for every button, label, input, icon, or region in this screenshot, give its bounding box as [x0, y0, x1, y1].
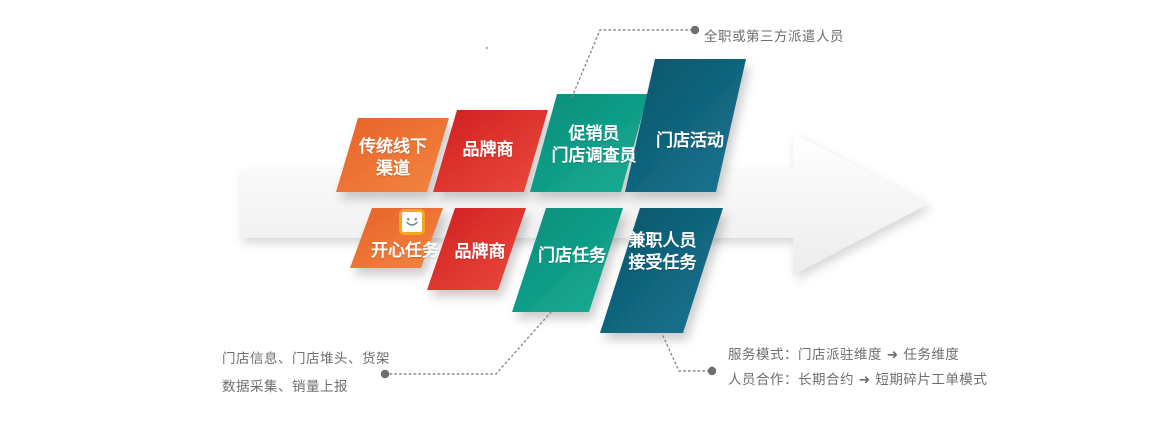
connector-dot-bottom-right: [708, 367, 716, 375]
connector-bottom-left: [389, 312, 551, 374]
diagram-canvas: 传统线下 渠道 品牌商 促销员 门店调查员 门店活动 开心任务 品牌商 门店任务…: [0, 0, 1150, 430]
annotation-bottom-left-line1: 门店信息、门店堆头、货架: [222, 345, 390, 373]
annotation-bottom-right-line1: 服务模式：门店派驻维度 ➜ 任务维度: [728, 343, 987, 368]
connector-bottom-right: [663, 336, 708, 371]
smiley-face-glyph: [404, 216, 420, 228]
connector-dot-top: [691, 26, 699, 34]
annotation-top-right: 全职或第三方派遣人员: [704, 25, 844, 45]
annotation-bottom-left: 门店信息、门店堆头、货架 数据采集、销量上报: [222, 345, 390, 401]
traditional-row: [336, 59, 746, 192]
annotation-bottom-right-line2: 人员合作：长期合约 ➜ 短期碎片工单模式: [728, 368, 987, 393]
annotation-bottom-left-line2: 数据采集、销量上报: [222, 373, 390, 401]
annotation-bottom-right: 服务模式：门店派驻维度 ➜ 任务维度 人员合作：长期合约 ➜ 短期碎片工单模式: [728, 343, 987, 393]
smiley-icon: [399, 209, 425, 235]
speck-dot: [486, 47, 489, 50]
